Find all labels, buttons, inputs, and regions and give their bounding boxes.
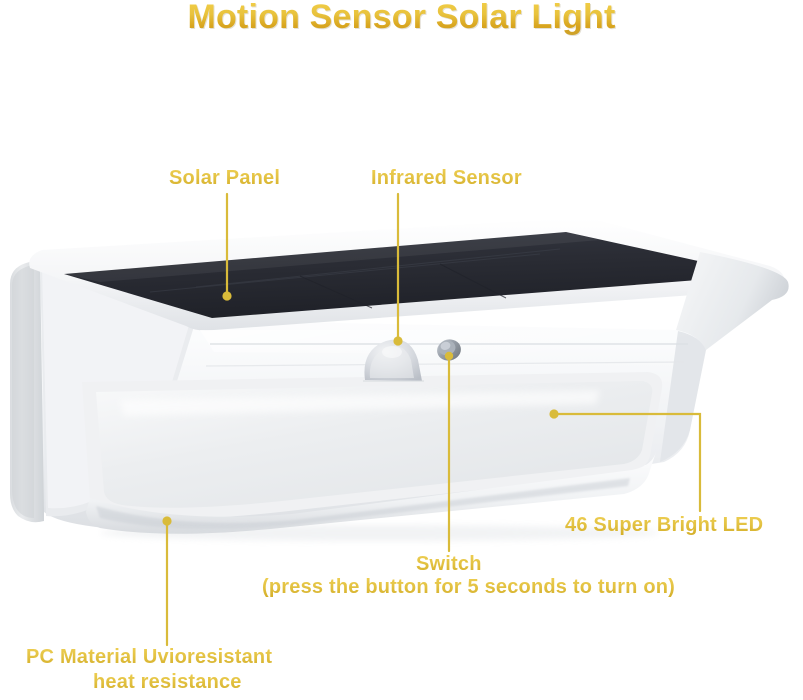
- wall-mount-backplate: [10, 258, 44, 522]
- callout-label-solar-panel: Solar Panel: [169, 167, 280, 190]
- callout-note-switch: (press the button for 5 seconds to turn …: [262, 576, 675, 599]
- callout-label-housing-line1: PC Material Uvioresistant: [26, 646, 272, 669]
- callout-label-infrared-sensor: Infrared Sensor: [371, 167, 522, 190]
- callout-label-led-array: 46 Super Bright LED: [565, 514, 763, 537]
- callout-label-housing-line2: heat resistance: [93, 671, 242, 694]
- page-title: Motion Sensor Solar Light: [0, 0, 803, 37]
- infographic-canvas: Motion Sensor Solar Light Solar Panel In…: [0, 0, 803, 700]
- callout-label-switch: Switch: [416, 553, 482, 576]
